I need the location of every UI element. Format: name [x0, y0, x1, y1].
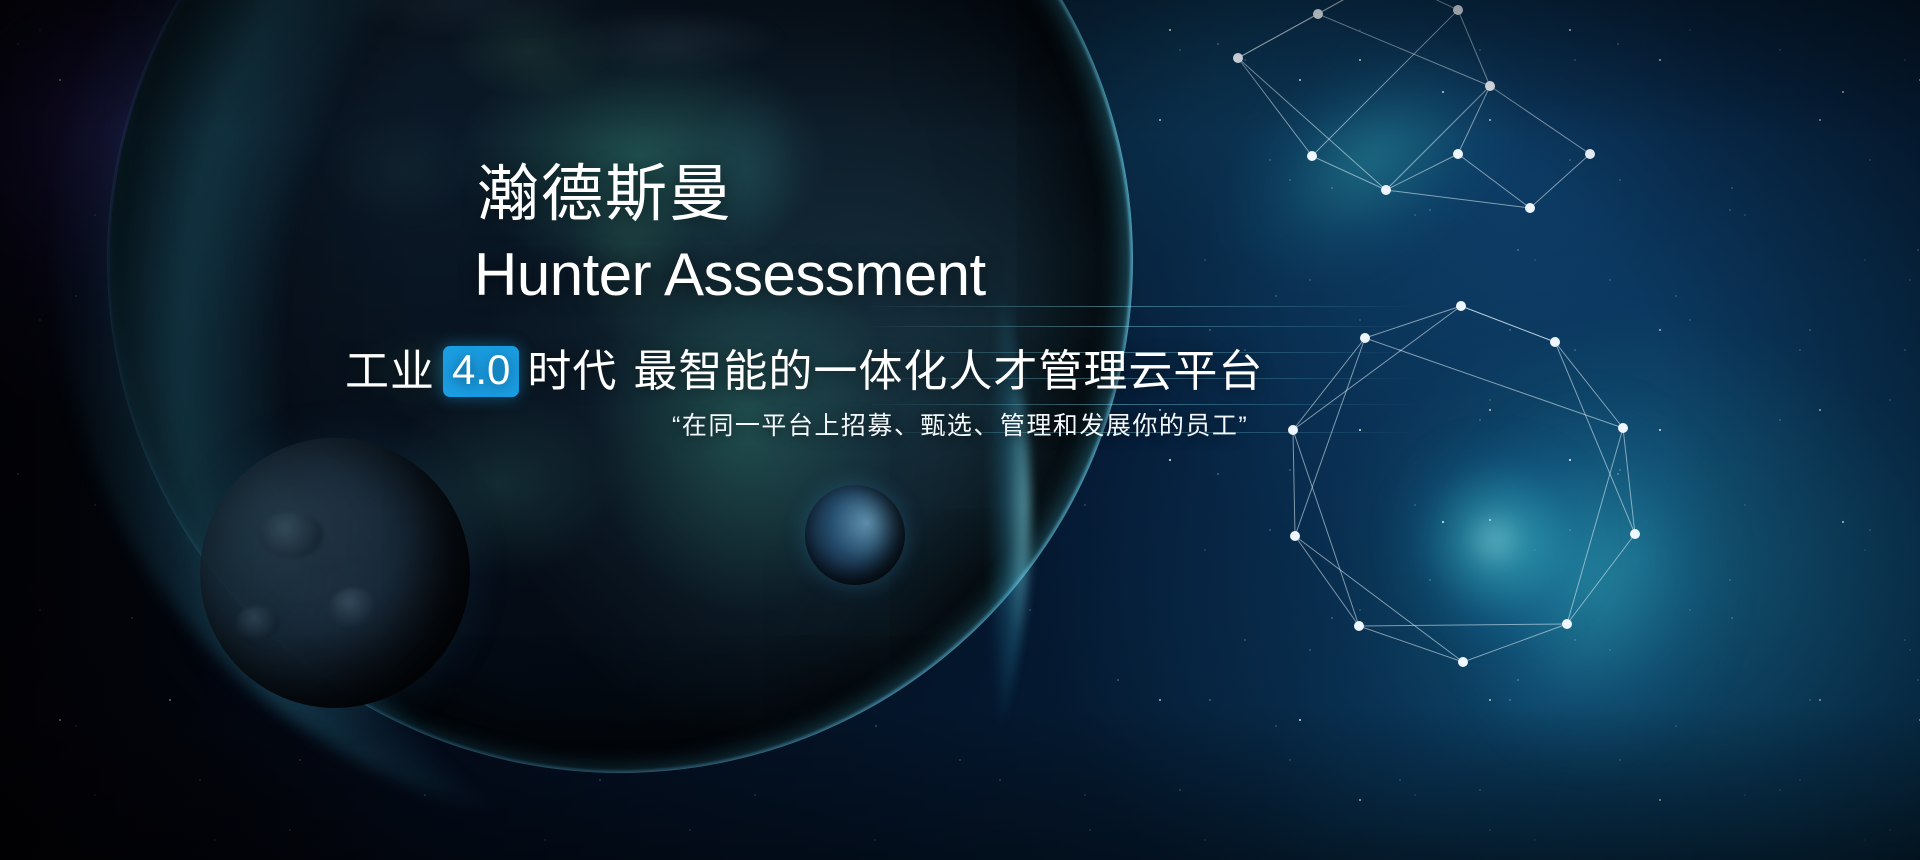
brand-title-chinese: 瀚德斯曼 [477, 162, 733, 228]
tagline-suffix: 最智能的一体化人才管理云平台 [633, 350, 1263, 394]
tagline-prefix: 工业 [345, 350, 435, 394]
brand-title-english: Hunter Assessment [474, 243, 986, 307]
hero-banner: 瀚德斯曼 Hunter Assessment 工业 4.0 时代 最智能的一体化… [0, 0, 1920, 860]
tagline-era: 时代 [527, 350, 617, 394]
hero-content: 瀚德斯曼 Hunter Assessment 工业 4.0 时代 最智能的一体化… [0, 0, 1920, 860]
hero-tagline: 工业 4.0 时代 最智能的一体化人才管理云平台 [345, 346, 1263, 397]
industry-version-badge: 4.0 [443, 346, 519, 397]
hero-quote: “在同一平台上招募、甄选、管理和发展你的员工” [672, 410, 1248, 443]
